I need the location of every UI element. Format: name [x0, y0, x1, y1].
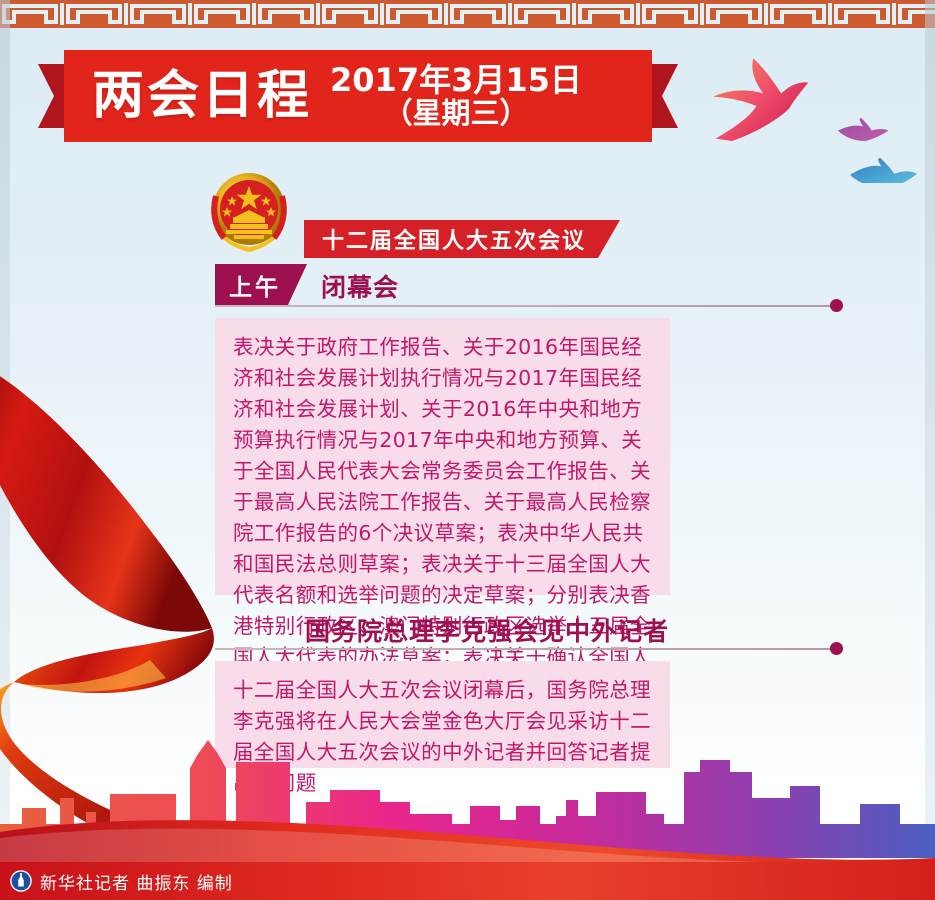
- session-banner: 十二届全国人大五次会议: [304, 220, 620, 258]
- title-ribbon: 两会日程 2017年3月15日 （星期三）: [38, 50, 678, 142]
- section-2-rule-dot: [830, 642, 843, 655]
- date-block: 2017年3月15日 （星期三）: [330, 64, 582, 128]
- flying-birds-decoration: [690, 48, 935, 183]
- date-line-2: （星期三）: [330, 98, 582, 128]
- page-title: 两会日程: [92, 70, 312, 122]
- red-wave-decoration: [0, 798, 935, 868]
- bird-purple-icon: [838, 118, 888, 141]
- section-2-heading: 国务院总理李克强会见中外记者: [305, 612, 669, 648]
- bird-large-icon: [708, 53, 814, 143]
- greek-key-border: [0, 0, 935, 28]
- section-1-rule: [215, 305, 836, 307]
- date-line-1: 2017年3月15日: [330, 64, 582, 98]
- bird-blue-icon: [850, 158, 917, 183]
- section-1-heading: 闭幕会: [321, 268, 399, 304]
- infographic-poster: 两会日程 2017年3月15日 （星期三）: [0, 0, 935, 900]
- session-banner-label: 十二届全国人大五次会议: [322, 223, 586, 255]
- section-1-body: 表决关于政府工作报告、关于2016年国民经济和社会发展计划执行情况与2017年国…: [215, 318, 670, 595]
- section-2-rule: [215, 648, 836, 650]
- section-1-header: 上午 闭幕会: [215, 264, 399, 307]
- footer-credit-bar: 新华社记者 曲振东 编制: [0, 862, 935, 900]
- ribbon-body: 两会日程 2017年3月15日 （星期三）: [64, 50, 652, 142]
- time-slot-badge: 上午: [215, 264, 307, 307]
- section-1-rule-dot: [830, 299, 843, 312]
- credit-text: 新华社记者 曲振东 编制: [40, 869, 233, 894]
- xinhua-logo: [10, 870, 32, 892]
- national-emblem-icon: [206, 166, 292, 258]
- greek-key-pattern-icon: [0, 3, 935, 25]
